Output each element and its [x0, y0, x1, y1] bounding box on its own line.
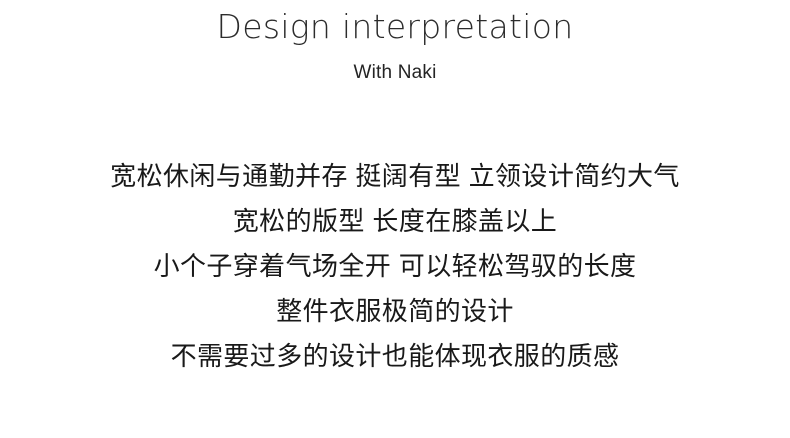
document-header: Design interpretation With Naki [0, 0, 790, 87]
body-line-3: 小个子穿着气场全开 可以轻松驾驭的长度 [0, 244, 790, 289]
page-title: Design interpretation [0, 4, 790, 50]
body-text-block: 宽松休闲与通勤并存 挺阔有型 立领设计简约大气 宽松的版型 长度在膝盖以上 小个… [0, 154, 790, 379]
body-line-1: 宽松休闲与通勤并存 挺阔有型 立领设计简约大气 [0, 154, 790, 199]
body-line-2: 宽松的版型 长度在膝盖以上 [0, 199, 790, 244]
document-page: Design interpretation With Naki 宽松休闲与通勤并… [0, 0, 790, 438]
body-line-4: 整件衣服极简的设计 [0, 289, 790, 334]
page-subtitle: With Naki [0, 59, 790, 87]
body-line-5: 不需要过多的设计也能体现衣服的质感 [0, 334, 790, 379]
